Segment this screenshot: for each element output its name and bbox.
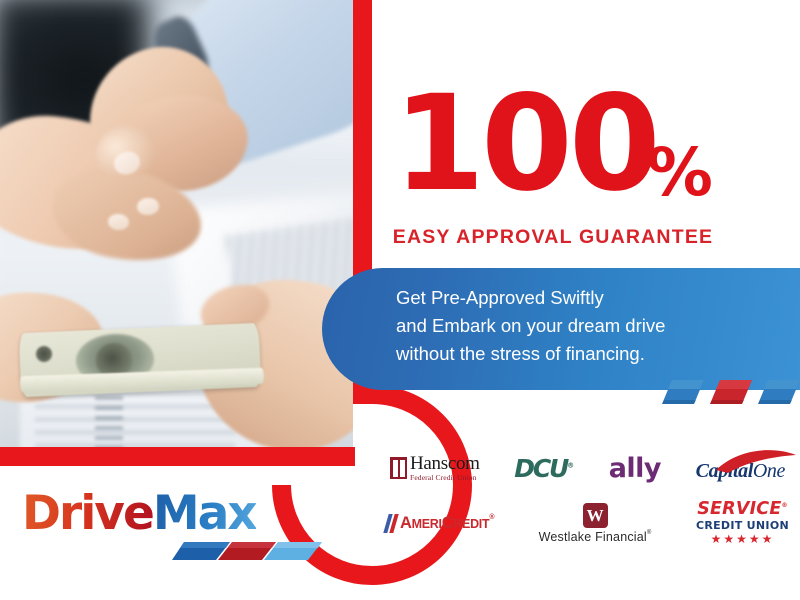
- service-credit-union-logo[interactable]: SERVICE® CREDIT UNION ★★★★★: [696, 501, 789, 546]
- americredit-redit: REDIT: [453, 517, 489, 531]
- headline-percent-symbol: %: [647, 140, 713, 206]
- westlake-name-text: Westlake Financial: [539, 530, 647, 544]
- photo-bill-seal: [36, 346, 52, 362]
- dcu-wordmark: DCU: [514, 454, 567, 483]
- callout-line-1: Get Pre-Approved Swiftly: [396, 284, 776, 312]
- callout-text: Get Pre-Approved Swiftly and Embark on y…: [396, 284, 776, 368]
- service-text: SERVICE: [697, 499, 781, 519]
- callout-line-3: without the stress of financing.: [396, 340, 776, 368]
- service-wordmark: SERVICE®: [697, 501, 788, 519]
- ally-logo[interactable]: ally: [609, 453, 661, 484]
- americredit-wordmark: AMERICREDIT®: [400, 514, 494, 533]
- americredit-slash-icon: [383, 514, 398, 533]
- capital-one-logo[interactable]: CapitalOne: [696, 454, 785, 483]
- hanscom-wordmark: Hanscom Federal Credit Union: [410, 454, 480, 482]
- hanscom-name: Hanscom: [410, 454, 480, 473]
- dcu-logo[interactable]: DCU®: [514, 454, 574, 483]
- ally-wordmark: ally: [609, 453, 661, 484]
- westlake-registered-mark: ®: [647, 530, 652, 536]
- chevron-arrow-blue-2-icon: [758, 378, 800, 406]
- hanscom-subtitle: Federal Credit Union: [410, 474, 480, 482]
- drivemax-promo-banner: 100% EASY APPROVAL GUARANTEE Get Pre-App…: [0, 0, 800, 600]
- americredit-c: C: [442, 514, 454, 532]
- photo-scene: [0, 0, 354, 466]
- handshake-and-cash-photo: [0, 0, 354, 466]
- callout-pill: Get Pre-Approved Swiftly and Embark on y…: [322, 268, 800, 390]
- service-stars-icon: ★★★★★: [711, 533, 775, 545]
- headline-100-percent: 100%: [388, 78, 718, 210]
- capital-one-capital: Capital: [696, 460, 753, 482]
- americredit-logo[interactable]: AMERICREDIT®: [386, 514, 494, 533]
- drivemax-drive-text: Drive: [22, 486, 153, 541]
- capital-one-one: One: [753, 460, 785, 482]
- americredit-meri: MERI: [412, 517, 442, 531]
- chevron-arrow-group: [662, 378, 800, 408]
- partner-logo-grid: Hanscom Federal Credit Union DCU® ally C…: [380, 445, 795, 557]
- drivemax-wordmark: DriveMax: [22, 490, 322, 537]
- chevron-arrow-blue-1-icon: [662, 378, 704, 406]
- dcu-registered-mark: ®: [567, 461, 574, 469]
- westlake-w-letter: W: [587, 507, 604, 524]
- headline-subtitle: EASY APPROVAL GUARANTEE: [388, 226, 718, 249]
- westlake-financial-logo[interactable]: W Westlake Financial®: [539, 503, 652, 544]
- partner-logo-row-2: AMERICREDIT® W Westlake Financial® SERVI…: [380, 497, 795, 549]
- westlake-wordmark: Westlake Financial®: [539, 530, 652, 544]
- red-frame-bottom-bar: [0, 447, 355, 466]
- service-registered-mark: ®: [782, 502, 788, 509]
- drivemax-accent-bars-icon: [172, 540, 322, 562]
- capital-one-wordmark: CapitalOne: [696, 460, 785, 483]
- callout-line-2: and Embark on your dream drive: [396, 312, 776, 340]
- westlake-w-badge-icon: W: [583, 503, 608, 528]
- drivemax-max-text: Max: [153, 486, 256, 541]
- hanscom-shield-icon: [390, 457, 407, 479]
- headline-number: 100: [393, 78, 657, 210]
- hanscom-federal-credit-union-logo[interactable]: Hanscom Federal Credit Union: [390, 454, 480, 482]
- americredit-registered-mark: ®: [489, 514, 494, 521]
- americredit-a: A: [400, 514, 412, 532]
- service-subtitle: CREDIT UNION: [696, 520, 789, 531]
- partner-logo-row-1: Hanscom Federal Credit Union DCU® ally C…: [380, 445, 795, 491]
- chevron-arrow-red-icon: [710, 378, 752, 406]
- drivemax-logo[interactable]: DriveMax: [22, 490, 322, 560]
